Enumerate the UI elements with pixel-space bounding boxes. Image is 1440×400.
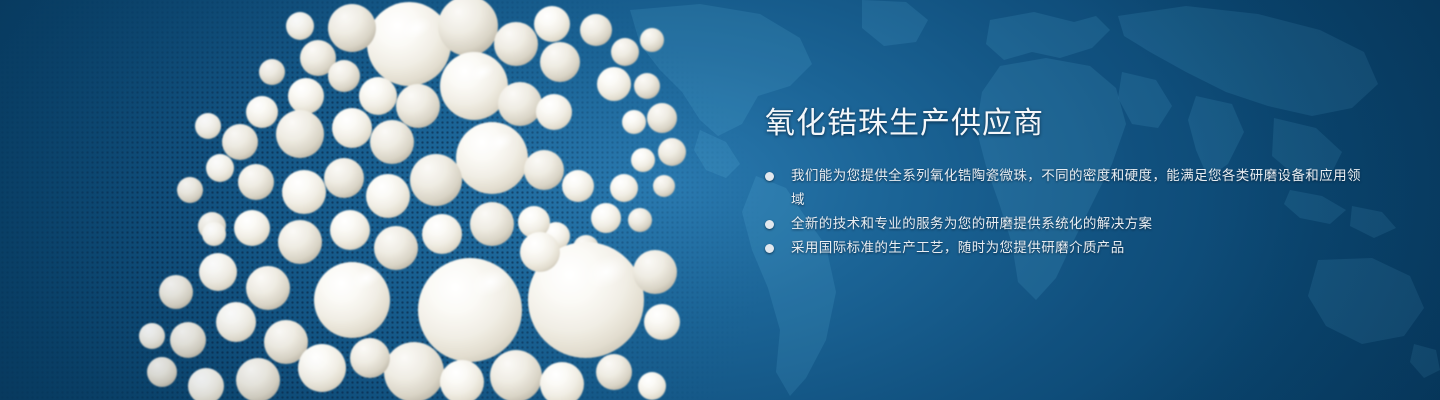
feature-list: 我们能为您提供全系列氧化锆陶瓷微珠，不同的密度和硬度，能满足您各类研磨设备和应用… bbox=[765, 164, 1365, 260]
hero-banner: 氧化锆珠生产供应商 我们能为您提供全系列氧化锆陶瓷微珠，不同的密度和硬度，能满足… bbox=[0, 0, 1440, 400]
bullet-circle-icon bbox=[765, 172, 774, 181]
list-item: 我们能为您提供全系列氧化锆陶瓷微珠，不同的密度和硬度，能满足您各类研磨设备和应用… bbox=[765, 164, 1365, 212]
page-title: 氧化锆珠生产供应商 bbox=[765, 104, 1365, 144]
bullet-circle-icon bbox=[765, 220, 774, 229]
feature-text: 采用国际标准的生产工艺，随时为您提供研磨介质产品 bbox=[791, 236, 1365, 260]
list-item: 采用国际标准的生产工艺，随时为您提供研磨介质产品 bbox=[765, 236, 1365, 260]
list-item: 全新的技术和专业的服务为您的研磨提供系统化的解决方案 bbox=[765, 212, 1365, 236]
banner-content: 氧化锆珠生产供应商 我们能为您提供全系列氧化锆陶瓷微珠，不同的密度和硬度，能满足… bbox=[765, 104, 1365, 260]
feature-text: 我们能为您提供全系列氧化锆陶瓷微珠，不同的密度和硬度，能满足您各类研磨设备和应用… bbox=[791, 164, 1365, 212]
feature-text: 全新的技术和专业的服务为您的研磨提供系统化的解决方案 bbox=[791, 212, 1365, 236]
bullet-circle-icon bbox=[765, 244, 774, 253]
